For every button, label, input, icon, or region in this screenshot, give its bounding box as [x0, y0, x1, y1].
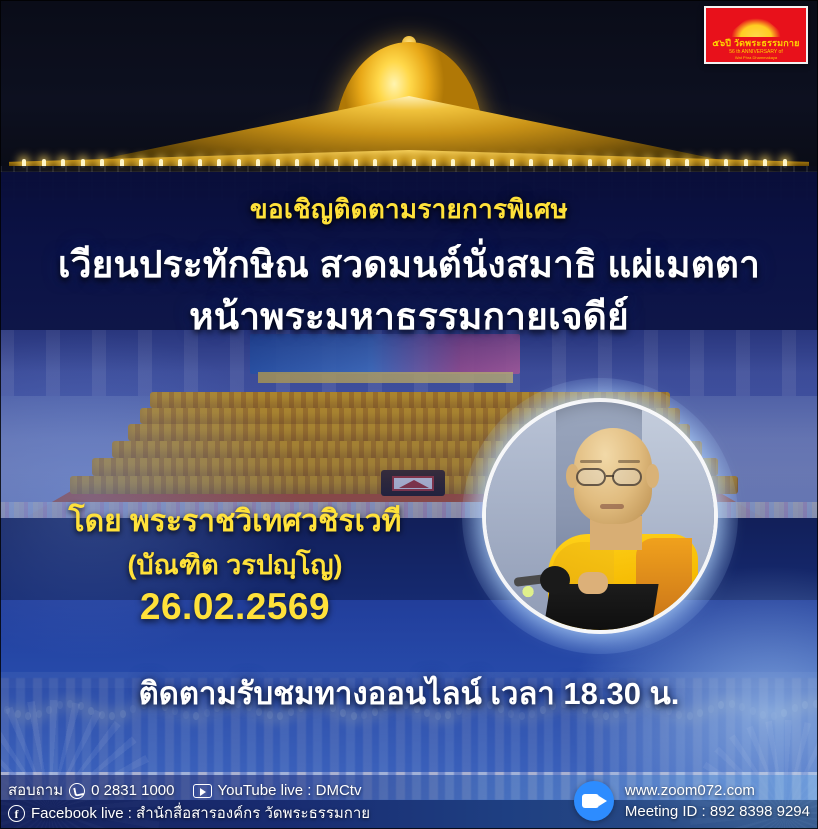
monk-mouth	[600, 504, 624, 509]
footer-facebook-row: f Facebook live : สำนักสื่อสารองค์กร วัด…	[8, 802, 478, 825]
poster-kicker: ขอเชิญติดตามรายการพิเศษ	[0, 189, 818, 230]
logo-english-line2: Wat Phra Dhammakaya	[735, 55, 777, 60]
hall-stage-banner-strip	[258, 372, 513, 383]
phone-number: 0 2831 1000	[91, 779, 174, 802]
monk-hand	[578, 572, 608, 594]
event-date: 26.02.2569	[0, 586, 470, 628]
podium-flowers	[494, 580, 556, 634]
footer-phone-row: สอบถาม 0 2831 1000 YouTube live : DMCtv	[8, 779, 478, 802]
monk-brow-left	[580, 460, 602, 463]
zoom-text-block: www.zoom072.com Meeting ID : 892 8398 92…	[625, 780, 810, 822]
logo-stupa-icon	[725, 11, 787, 37]
youtube-icon[interactable]	[193, 784, 212, 798]
logo-thai-text: ๕๖ปี วัดพระธรรมกาย	[712, 38, 799, 48]
poster-headline-line2: หน้าพระมหาธรรมกายเจดีย์	[0, 287, 818, 346]
poster-footer: สอบถาม 0 2831 1000 YouTube live : DMCtv …	[0, 775, 818, 829]
podium-emblem	[392, 476, 434, 491]
monk-portrait	[482, 398, 718, 634]
contact-label: สอบถาม	[8, 779, 63, 802]
poster-headline-line1: เวียนประทักษิณ สวดมนต์นั่งสมาธิ แผ่เมตตา	[0, 235, 818, 294]
stupa-night-photo	[0, 0, 818, 172]
facebook-label[interactable]: Facebook live : สำนักสื่อสารองค์กร วัดพร…	[31, 802, 370, 825]
speaker-name: โดย พระราชวิเทศวชิรเวที	[0, 498, 470, 545]
zoom-url[interactable]: www.zoom072.com	[625, 780, 810, 801]
facebook-icon[interactable]: f	[8, 805, 25, 822]
phone-icon	[69, 783, 85, 799]
monk-eyeglass-bridge	[606, 475, 614, 477]
watch-online-time: ติดตามรับชมทางออนไลน์ เวลา 18.30 น.	[0, 668, 818, 718]
zoom-meeting-id: Meeting ID : 892 8398 9294	[625, 801, 810, 822]
monk-ear-right	[646, 464, 659, 488]
event-poster: ๕๖ปี วัดพระธรรมกาย 56 th ANNIVERSARY of …	[0, 0, 818, 829]
anniversary-logo-badge: ๕๖ปี วัดพระธรรมกาย 56 th ANNIVERSARY of …	[704, 6, 808, 64]
monk-eyeglass-left	[576, 468, 606, 486]
monk-brow-right	[618, 460, 640, 463]
speaker-dhamma-name: (บัณฑิต วรปญฺโญ)	[0, 543, 470, 586]
footer-zoom-block: www.zoom072.com Meeting ID : 892 8398 92…	[574, 780, 810, 822]
monk-eyeglass-right	[612, 468, 642, 486]
zoom-camera-icon[interactable]	[574, 781, 614, 821]
footer-contact-block: สอบถาม 0 2831 1000 YouTube live : DMCtv …	[8, 779, 478, 825]
youtube-label[interactable]: YouTube live : DMCtv	[218, 779, 362, 802]
